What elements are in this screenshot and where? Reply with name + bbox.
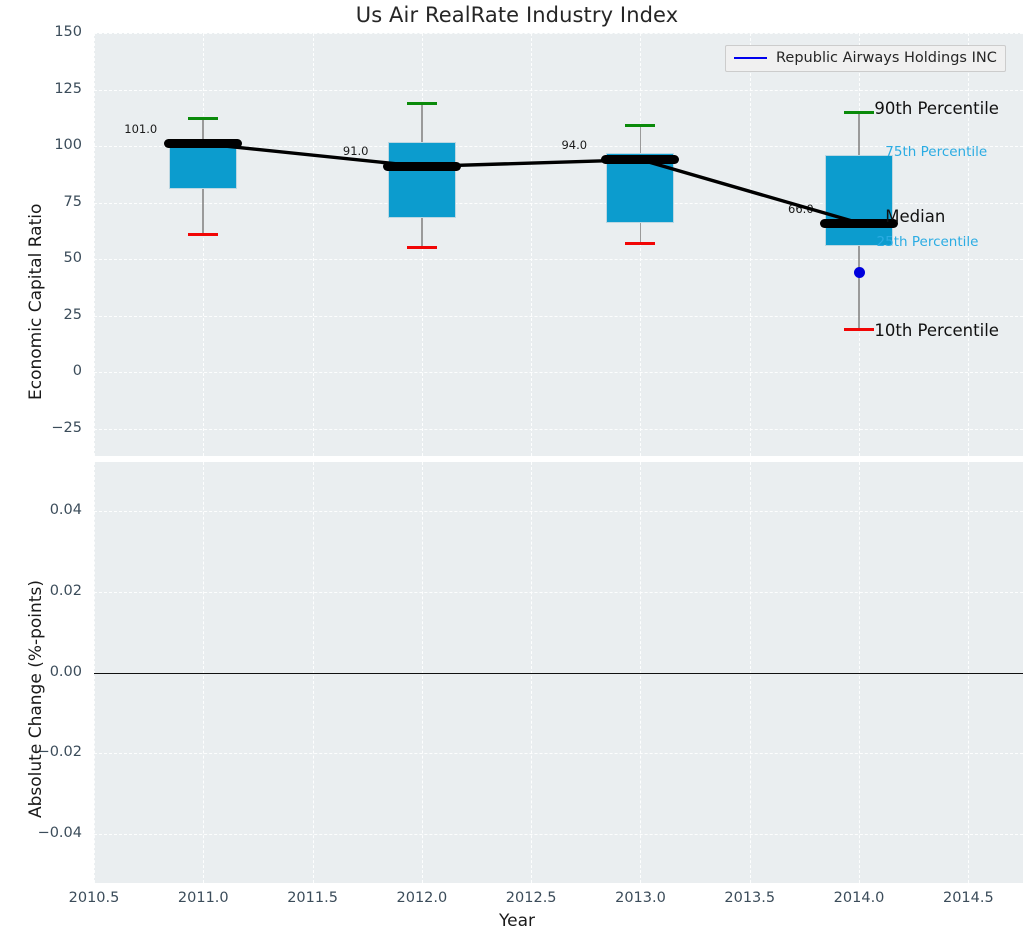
y-tick-label: 150: [4, 24, 82, 40]
legend[interactable]: Republic Airways Holdings INC: [725, 45, 1006, 72]
x-tick-label: 2010.5: [49, 890, 139, 906]
x-tick-label: 2013.0: [595, 890, 685, 906]
y-tick-label: −0.04: [4, 825, 82, 841]
legend-entry-label: Republic Airways Holdings INC: [776, 50, 997, 66]
x-tick-label: 2012.0: [377, 890, 467, 906]
legend-line-icon: [734, 57, 767, 59]
chart-root: Us Air RealRate Industry Index 150125100…: [0, 0, 1034, 942]
median-trend-line: [94, 33, 1023, 456]
x-tick-label: 2011.0: [158, 890, 248, 906]
x-tick-label: 2014.5: [923, 890, 1013, 906]
x-tick-label: 2012.5: [486, 890, 576, 906]
x-tick-label: 2013.5: [705, 890, 795, 906]
y-tick-label: 100: [4, 137, 82, 153]
y-tick-label: −25: [4, 420, 82, 436]
x-tick-label: 2011.5: [268, 890, 358, 906]
y-tick-label: 125: [4, 81, 82, 97]
chart-title: Us Air RealRate Industry Index: [0, 3, 1034, 27]
y-tick-label: 0.04: [4, 502, 82, 518]
x-axis-label: Year: [0, 911, 1034, 931]
x-tick-label: 2014.0: [814, 890, 904, 906]
zero-reference-line: [94, 673, 1023, 674]
y-axis-label-bottom: Absolute Change (%-points): [26, 580, 46, 818]
y-axis-label-top: Economic Capital Ratio: [26, 204, 46, 400]
